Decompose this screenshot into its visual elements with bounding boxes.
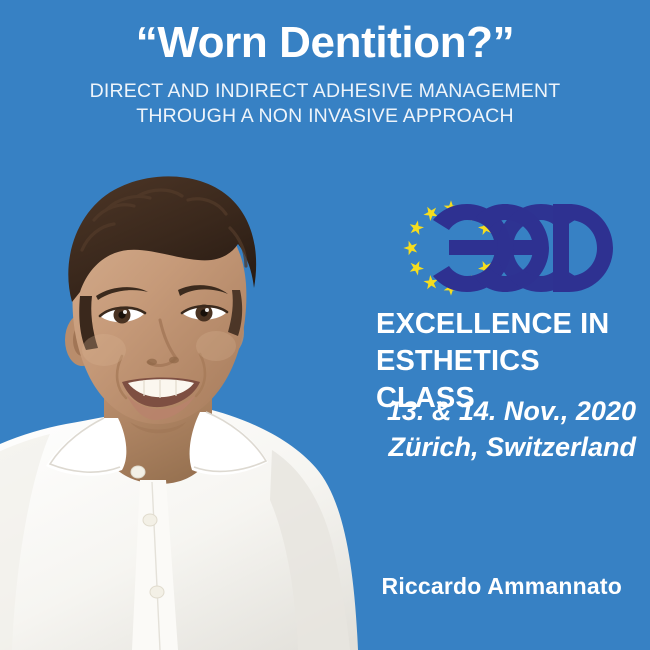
event-poster: “Worn Dentition?” DIRECT AND INDIRECT AD… xyxy=(0,0,650,650)
event-date-location: 13. & 14. Nov., 2020 Zürich, Switzerland xyxy=(326,394,636,465)
class-title-line-1: EXCELLENCE IN xyxy=(376,308,609,340)
event-location: Zürich, Switzerland xyxy=(326,430,636,466)
event-date: 13. & 14. Nov., 2020 xyxy=(387,396,636,426)
eaed-letterforms xyxy=(433,204,613,292)
subtitle-line-2: THROUGH A NON INVASIVE APPROACH xyxy=(24,104,626,129)
subtitle: DIRECT AND INDIRECT ADHESIVE MANAGEMENT … xyxy=(0,79,650,129)
page-title: “Worn Dentition?” xyxy=(0,18,650,67)
subtitle-line-1: DIRECT AND INDIRECT ADHESIVE MANAGEMENT xyxy=(90,80,561,102)
headline-block: “Worn Dentition?” DIRECT AND INDIRECT AD… xyxy=(0,18,650,129)
presenter-name: Riccardo Ammannato xyxy=(300,573,622,600)
eaed-logo xyxy=(393,196,615,300)
